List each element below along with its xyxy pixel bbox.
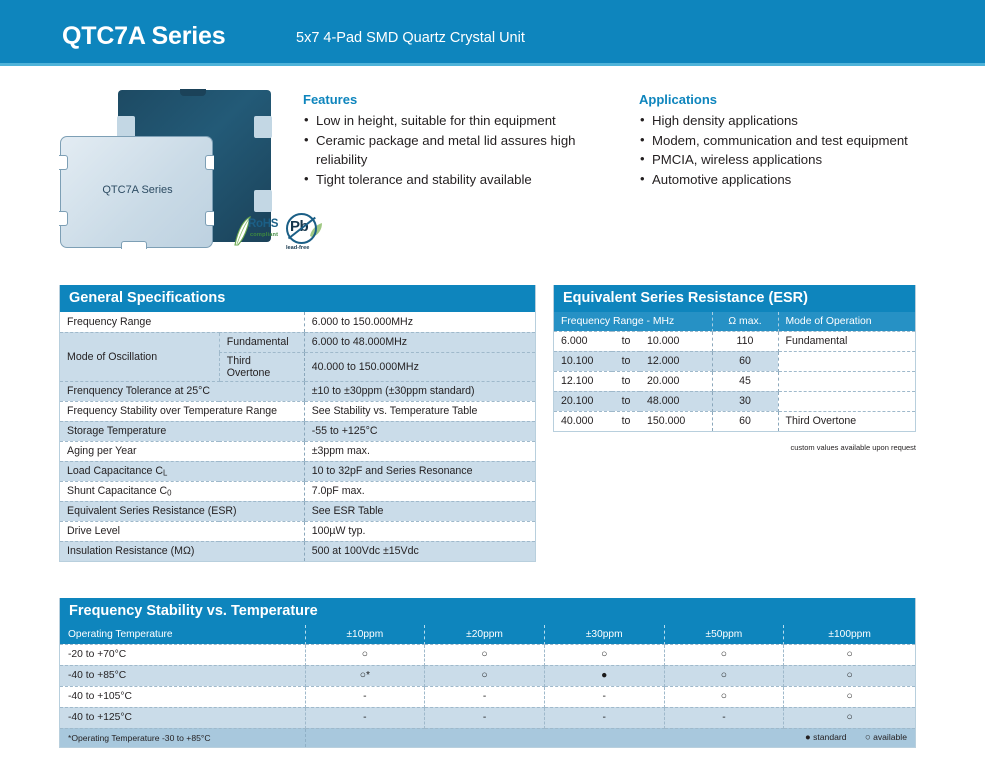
availability-marker: ○	[305, 644, 425, 665]
spec-value: 7.0pF max.	[304, 481, 535, 501]
esr-freq-to-word: to	[612, 371, 640, 391]
table-footer-row: *Operating Temperature -30 to +85°C ● st…	[60, 728, 915, 747]
general-specifications-title: General Specifications	[60, 285, 535, 312]
features-heading: Features	[303, 92, 623, 107]
availability-marker: -	[544, 686, 664, 707]
spec-label: Storage Temperature	[60, 421, 304, 441]
table-row: Mode of Oscillation Fundamental 6.000 to…	[60, 332, 535, 352]
spec-label: Mode of Oscillation	[60, 332, 219, 381]
spec-value: 100µW typ.	[304, 521, 535, 541]
spec-label: Insulation Resistance (MΩ)	[60, 541, 304, 561]
availability-marker: ●	[544, 665, 664, 686]
table-row: 40.000 to 150.000 60 Third Overtone	[554, 411, 915, 431]
legend-standard-label: standard	[813, 732, 846, 742]
table-row: Equivalent Series Resistance (ESR) See E…	[60, 501, 535, 521]
list-item: Ceramic package and metal lid assures hi…	[303, 131, 623, 170]
stability-footnote: *Operating Temperature -30 to +85°C	[60, 728, 305, 747]
table-header-row: Operating Temperature ±10ppm ±20ppm ±30p…	[60, 625, 915, 644]
list-item: Automotive applications	[639, 170, 969, 190]
features-list: Low in height, suitable for thin equipme…	[303, 111, 623, 189]
spec-label: Equivalent Series Resistance (ESR)	[60, 501, 304, 521]
availability-marker: ○	[425, 665, 545, 686]
spec-value: See ESR Table	[304, 501, 535, 521]
rohs-text: RoHS	[248, 218, 278, 230]
availability-marker: -	[544, 707, 664, 728]
package-top-notch	[180, 89, 206, 96]
esr-ohm-value: 60	[712, 351, 778, 371]
list-item: Low in height, suitable for thin equipme…	[303, 111, 623, 131]
table-row: 6.000 to 10.000 110 Fundamental	[554, 331, 915, 351]
availability-marker: ○	[664, 686, 784, 707]
spec-value: 10 to 32pF and Series Resonance	[304, 461, 535, 481]
esr-ohm-value: 45	[712, 371, 778, 391]
column-header-50ppm: ±50ppm	[664, 625, 784, 644]
column-header-10ppm: ±10ppm	[305, 625, 425, 644]
frequency-stability-grid: Operating Temperature ±10ppm ±20ppm ±30p…	[60, 625, 915, 747]
esr-ohm-value: 30	[712, 391, 778, 411]
availability-marker: -	[425, 707, 545, 728]
header-accent-rule	[0, 63, 985, 66]
table-row: -40 to +105°C - - - ○ ○	[60, 686, 915, 707]
stability-temp-range: -40 to +105°C	[60, 686, 305, 707]
general-specifications-table: General Specifications Frequency Range 6…	[59, 285, 536, 562]
rohs-subtext: compliant	[250, 232, 278, 238]
table-row: Frenquency Tolerance at 25°C ±10 to ±30p…	[60, 381, 535, 401]
availability-marker: ○	[784, 707, 915, 728]
applications-list: High density applications Modem, communi…	[639, 111, 969, 189]
spec-value: 40.000 to 150.000MHz	[304, 352, 535, 381]
column-header-20ppm: ±20ppm	[425, 625, 545, 644]
spec-label: Frenquency Tolerance at 25°C	[60, 381, 304, 401]
esr-freq-to: 12.000	[640, 351, 712, 371]
column-header-operating-temperature: Operating Temperature	[60, 625, 305, 644]
spec-label: Frequency Stability over Temperature Ran…	[60, 401, 304, 421]
package-notch	[121, 241, 147, 249]
table-row: Frequency Stability over Temperature Ran…	[60, 401, 535, 421]
esr-custom-values-note: custom values available upon request	[553, 443, 916, 452]
applications-section: Applications High density applications M…	[639, 92, 969, 189]
table-header-row: Frequency Range - MHz Ω max. Mode of Ope…	[554, 312, 915, 331]
table-row: Shunt Capacitance C0 7.0pF max.	[60, 481, 535, 501]
spec-value: 6.000 to 150.000MHz	[304, 312, 535, 332]
stability-temp-range: -40 to +85°C	[60, 665, 305, 686]
table-row: Aging per Year ±3ppm max.	[60, 441, 535, 461]
legend-standard: ● standard	[805, 732, 847, 742]
list-item: High density applications	[639, 111, 969, 131]
availability-marker: ○	[664, 665, 784, 686]
availability-marker: ○	[664, 644, 784, 665]
spec-label: Frequency Range	[60, 312, 304, 332]
table-row: Frequency Range 6.000 to 150.000MHz	[60, 312, 535, 332]
spec-label: Aging per Year	[60, 441, 304, 461]
page-title: QTC7A Series	[62, 22, 225, 51]
package-notch	[205, 211, 214, 226]
esr-freq-to-word: to	[612, 351, 640, 371]
esr-freq-to: 48.000	[640, 391, 712, 411]
page-subtitle: 5x7 4-Pad SMD Quartz Crystal Unit	[296, 30, 525, 46]
column-header-100ppm: ±100ppm	[784, 625, 915, 644]
table-row: Drive Level 100µW typ.	[60, 521, 535, 541]
lead-free-subtext: lead-free	[286, 245, 309, 251]
esr-freq-from: 20.100	[554, 391, 612, 411]
table-row: -40 to +85°C ○* ○ ● ○ ○	[60, 665, 915, 686]
spec-label: Shunt Capacitance C0	[60, 481, 304, 501]
esr-table: Equivalent Series Resistance (ESR) Frequ…	[553, 285, 916, 432]
availability-marker: ○	[784, 644, 915, 665]
legend-available: ○ available	[865, 732, 907, 742]
availability-marker: ○	[425, 644, 545, 665]
table-row: 20.100 to 48.000 30	[554, 391, 915, 411]
esr-freq-from: 10.100	[554, 351, 612, 371]
esr-freq-to: 20.000	[640, 371, 712, 391]
esr-ohm-value: 110	[712, 331, 778, 351]
esr-mode	[778, 351, 915, 371]
availability-marker: -	[664, 707, 784, 728]
column-header-30ppm: ±30ppm	[544, 625, 664, 644]
availability-marker: -	[305, 707, 425, 728]
table-row: Storage Temperature -55 to +125°C	[60, 421, 535, 441]
esr-title: Equivalent Series Resistance (ESR)	[554, 285, 915, 312]
esr-freq-to: 150.000	[640, 411, 712, 431]
package-notch	[205, 155, 214, 170]
spec-value: ±3ppm max.	[304, 441, 535, 461]
certification-logos: RoHS compliant Pb lead-free	[232, 211, 324, 261]
table-row: Insulation Resistance (MΩ) 500 at 100Vdc…	[60, 541, 535, 561]
stability-temp-range: -20 to +70°C	[60, 644, 305, 665]
spec-label-subscript: L	[163, 468, 167, 477]
solder-pad	[117, 116, 135, 138]
spec-label: Drive Level	[60, 521, 304, 541]
availability-marker: -	[425, 686, 545, 707]
spec-value: -55 to +125°C	[304, 421, 535, 441]
availability-marker: -	[305, 686, 425, 707]
availability-marker: ○	[784, 665, 915, 686]
frequency-stability-title: Frequency Stability vs. Temperature	[60, 598, 915, 625]
stability-temp-range: -40 to +125°C	[60, 707, 305, 728]
frequency-stability-table: Frequency Stability vs. Temperature Oper…	[59, 598, 916, 748]
table-row: Load Capacitance CL 10 to 32pF and Serie…	[60, 461, 535, 481]
stability-legend: ● standard ○ available	[305, 728, 915, 747]
spec-value: 6.000 to 48.000MHz	[304, 332, 535, 352]
spec-label: Load Capacitance CL	[60, 461, 304, 481]
esr-ohm-value: 60	[712, 411, 778, 431]
table-row: -20 to +70°C ○ ○ ○ ○ ○	[60, 644, 915, 665]
solder-pad	[254, 116, 272, 138]
esr-mode	[778, 371, 915, 391]
lead-free-icon: Pb lead-free	[282, 211, 324, 257]
esr-freq-to: 10.000	[640, 331, 712, 351]
esr-freq-to-word: to	[612, 411, 640, 431]
esr-mode: Fundamental	[778, 331, 915, 351]
features-section: Features Low in height, suitable for thi…	[303, 92, 623, 189]
package-label: QTC7A Series	[61, 184, 214, 196]
crystal-package-front-view: QTC7A Series	[60, 136, 213, 248]
esr-mode	[778, 391, 915, 411]
spec-value: 500 at 100Vdc ±15Vdc	[304, 541, 535, 561]
package-notch	[59, 155, 68, 170]
legend-available-label: available	[873, 732, 907, 742]
spec-sublabel: Fundamental	[219, 332, 304, 352]
esr-freq-to-word: to	[612, 331, 640, 351]
general-specifications-grid: Frequency Range 6.000 to 150.000MHz Mode…	[60, 312, 535, 561]
solder-pad	[254, 190, 272, 212]
availability-marker: ○	[544, 644, 664, 665]
open-circle-icon: ○	[865, 732, 871, 743]
spec-sublabel: Third Overtone	[219, 352, 304, 381]
esr-freq-from: 40.000	[554, 411, 612, 431]
availability-marker: ○*	[305, 665, 425, 686]
column-header-mode-of-operation: Mode of Operation	[778, 312, 915, 331]
table-row: 10.100 to 12.000 60	[554, 351, 915, 371]
column-header-frequency-range: Frequency Range - MHz	[554, 312, 712, 331]
rohs-compliant-icon: RoHS compliant	[232, 215, 284, 249]
esr-freq-from: 12.100	[554, 371, 612, 391]
applications-heading: Applications	[639, 92, 969, 107]
esr-freq-to-word: to	[612, 391, 640, 411]
table-row: 12.100 to 20.000 45	[554, 371, 915, 391]
filled-circle-icon: ●	[805, 732, 811, 743]
spec-value: See Stability vs. Temperature Table	[304, 401, 535, 421]
spec-value: ±10 to ±30ppm (±30ppm standard)	[304, 381, 535, 401]
column-header-ohm-max: Ω max.	[712, 312, 778, 331]
spec-label-subscript: 0	[167, 488, 171, 497]
table-row: -40 to +125°C - - - - ○	[60, 707, 915, 728]
list-item: PMCIA, wireless applications	[639, 150, 969, 170]
esr-grid: Frequency Range - MHz Ω max. Mode of Ope…	[554, 312, 915, 431]
esr-freq-from: 6.000	[554, 331, 612, 351]
esr-mode: Third Overtone	[778, 411, 915, 431]
list-item: Modem, communication and test equipment	[639, 131, 969, 151]
availability-marker: ○	[784, 686, 915, 707]
package-notch	[59, 211, 68, 226]
list-item: Tight tolerance and stability available	[303, 170, 623, 190]
